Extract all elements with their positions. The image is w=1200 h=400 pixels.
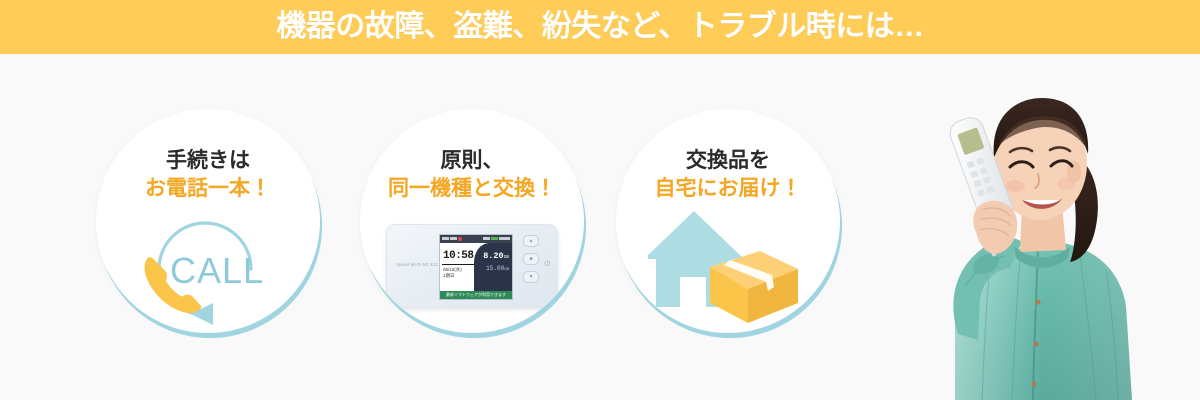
router-brand-label: Speed Wi-Fi 5G X12 xyxy=(396,262,438,267)
feature-3-line2: 自宅にお届け！ xyxy=(655,177,802,201)
feature-circle-home-delivery: 交換品を 自宅にお届け！ xyxy=(616,109,840,333)
feature-3-artwork xyxy=(616,200,840,333)
feature-3-line1: 交換品を xyxy=(686,149,770,173)
router-signal-icons xyxy=(442,237,462,241)
router-data-total: 15.00GB xyxy=(486,265,509,272)
promo-banner-stage: 機器の故障、盗難、紛失など、トラブル時には… 手続きは お電話一本！ xyxy=(0,0,1200,400)
router-screen-body: 10:58 06/12(水) 1期日 8.20GB 15.00GB xyxy=(440,243,512,291)
router-battery-icons xyxy=(483,237,510,241)
router-data-total-unit: GB xyxy=(504,268,509,272)
router-data-total-value: 15.00 xyxy=(486,265,504,272)
router-date-value: 06/12(水) xyxy=(443,267,462,272)
router-screen: 10:58 06/12(水) 1期日 8.20GB 15.00GB xyxy=(439,234,513,300)
header-banner: 機器の故障、盗難、紛失など、トラブル時には… xyxy=(0,0,1200,54)
router-data-used: 8.20GB xyxy=(483,251,509,261)
house-with-parcel-icon xyxy=(648,207,808,325)
feature-circle-phone-call: 手続きは お電話一本！ CALL CALL xyxy=(96,109,320,333)
feature-1-line2: お電話一本！ xyxy=(145,177,271,201)
router-data-used-unit: GB xyxy=(504,255,509,260)
call-label: CALL xyxy=(170,250,264,291)
feature-circle-group: 手続きは お電話一本！ CALL CALL xyxy=(0,54,900,400)
feature-2-artwork: Speed Wi-Fi 5G X12 10:58 xyxy=(360,200,584,333)
model-photo: Model photo xyxy=(870,54,1200,400)
router-key-up[interactable]: ▲ xyxy=(523,235,539,247)
router-weekday-value: 1期日 xyxy=(443,273,455,278)
router-ticker: 最新ソフトウェアが利用できます xyxy=(440,291,512,299)
feature-2-line2: 同一機種と交換！ xyxy=(388,177,556,201)
router-key-down[interactable]: ▼ xyxy=(523,271,539,283)
router-clock: 10:58 xyxy=(443,250,474,262)
router-data-used-value: 8.20 xyxy=(483,251,503,261)
call-rotation-icon: CALL CALL xyxy=(133,199,283,331)
router-status-bar xyxy=(440,235,512,243)
router-clock-underline xyxy=(442,264,474,265)
mobile-router-icon: Speed Wi-Fi 5G X12 10:58 xyxy=(386,224,558,308)
router-key-select[interactable]: ■ xyxy=(523,253,539,265)
feature-circle-same-model-exchange: 原則、 同一機種と交換！ Speed Wi-Fi 5G X12 xyxy=(360,109,584,333)
feature-1-line1: 手続きは xyxy=(166,149,250,173)
page-title: 機器の故障、盗難、紛失など、トラブル時には… xyxy=(276,12,924,42)
router-power-icon: ⏻ xyxy=(544,261,550,269)
feature-1-artwork: CALL CALL xyxy=(96,200,320,333)
feature-2-line1: 原則、 xyxy=(441,149,504,173)
router-key-group: ▲ ■ ▼ xyxy=(523,235,539,289)
router-date: 06/12(水) 1期日 xyxy=(443,267,462,281)
